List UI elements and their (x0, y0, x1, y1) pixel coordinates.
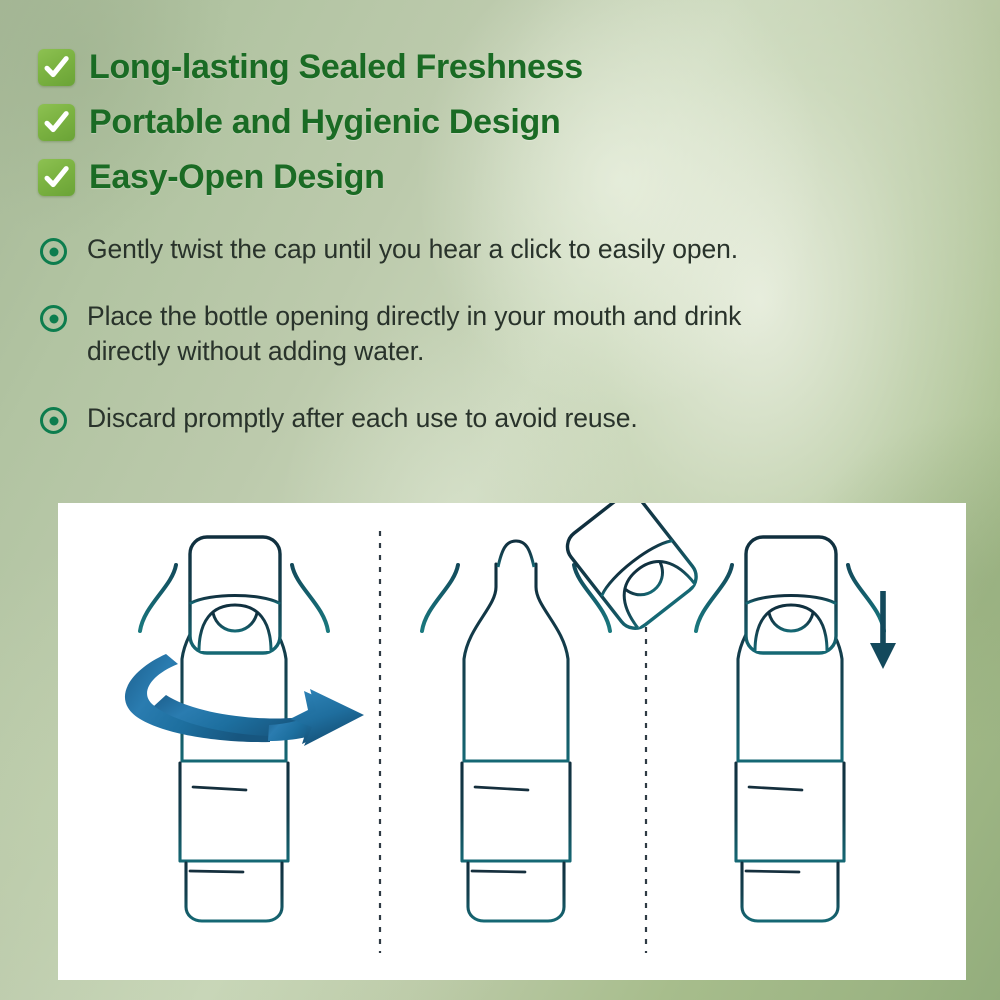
feature-heading-label: Portable and Hygienic Design (89, 103, 561, 142)
feature-headings-list: Long-lasting Sealed Freshness Portable a… (38, 40, 738, 205)
feature-heading-row: Easy-Open Design (38, 150, 738, 205)
instruction-text: Gently twist the cap until you hear a cl… (87, 232, 738, 267)
tilted-cap-icon (561, 503, 703, 635)
bullet-ring-icon (40, 305, 67, 332)
feature-heading-label: Long-lasting Sealed Freshness (89, 48, 583, 87)
check-box-icon (38, 49, 75, 86)
instruction-item: Gently twist the cap until you hear a cl… (40, 232, 830, 267)
usage-instructions-list: Gently twist the cap until you hear a cl… (40, 232, 830, 436)
down-arrow-icon (870, 591, 896, 669)
instruction-item: Place the bottle opening directly in you… (40, 299, 830, 369)
feature-heading-row: Portable and Hygienic Design (38, 95, 738, 150)
instruction-text: Discard promptly after each use to avoid… (87, 401, 638, 436)
check-box-icon (38, 159, 75, 196)
bullet-ring-icon (40, 238, 67, 265)
three-step-usage-illustration (58, 503, 966, 980)
twist-cap-step (125, 537, 364, 980)
check-box-icon (38, 104, 75, 141)
bullet-ring-icon (40, 407, 67, 434)
instruction-item: Discard promptly after each use to avoid… (40, 401, 830, 436)
feature-heading-label: Easy-Open Design (89, 158, 385, 197)
instruction-text: Place the bottle opening directly in you… (87, 299, 817, 369)
feature-heading-row: Long-lasting Sealed Freshness (38, 40, 738, 95)
remove-cap-step (422, 503, 703, 980)
press-cap-step (696, 537, 896, 980)
